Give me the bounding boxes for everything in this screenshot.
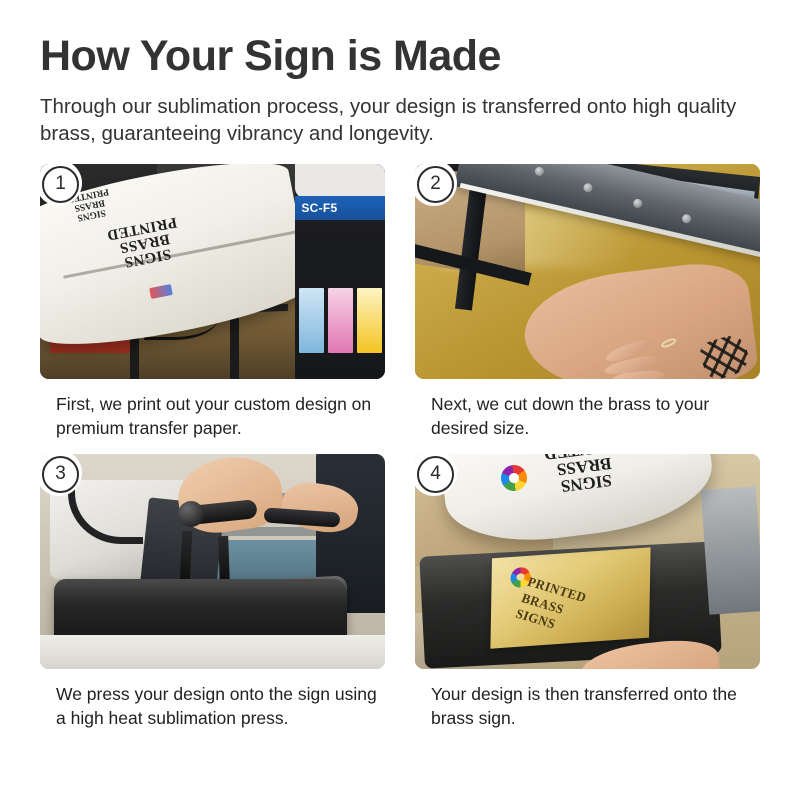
step-photo-4: PRINTEDBRASSSIGNS SIGNSBRASSPRINTED 4: [415, 454, 760, 669]
step-photo-3: 3: [40, 454, 385, 669]
forearm-tattoo: [698, 332, 753, 379]
step-badge-3: 3: [42, 456, 79, 493]
step-badge-4: 4: [417, 456, 454, 493]
step-badge-2: 2: [417, 166, 454, 203]
blade-bolt: [533, 166, 544, 177]
step-card-3: 3 We press your design onto the sign usi…: [40, 454, 385, 730]
step-card-1: SIGNSBRASSPRINTED SIGNSBRASSPRINTED SC-F…: [40, 164, 385, 440]
printer-model-label: SC-F5: [295, 196, 385, 220]
step-card-4: PRINTEDBRASSSIGNS SIGNSBRASSPRINTED 4 Yo…: [415, 454, 760, 730]
step-caption-1: First, we print out your custom design o…: [40, 379, 385, 440]
finished-brass-sign: PRINTEDBRASSSIGNS: [490, 547, 650, 649]
steps-grid: SIGNSBRASSPRINTED SIGNSBRASSPRINTED SC-F…: [40, 164, 760, 731]
ink-cartridge-yellow: [357, 288, 382, 353]
step-photo-1: SIGNSBRASSPRINTED SIGNSBRASSPRINTED SC-F…: [40, 164, 385, 379]
press-right-rail: [701, 487, 760, 615]
page-subtitle: Through our sublimation process, your de…: [40, 93, 740, 148]
step-card-2: 2 Next, we cut down the brass to your de…: [415, 164, 760, 440]
step-caption-2: Next, we cut down the brass to your desi…: [415, 379, 760, 440]
step-caption-4: Your design is then transferred onto the…: [415, 669, 760, 730]
protective-cloth: [40, 635, 385, 669]
step-caption-3: We press your design onto the sign using…: [40, 669, 385, 730]
step-photo-2: 2: [415, 164, 760, 379]
infographic-page: How Your Sign is Made Through our sublim…: [0, 0, 800, 800]
ink-cartridge-cyan: [299, 288, 324, 353]
printer-top-cover: [295, 164, 385, 198]
blade-bolt: [680, 213, 691, 224]
wedding-ring: [661, 337, 678, 350]
blade-bolt: [631, 197, 642, 208]
ink-cartridge-bay: [299, 288, 382, 353]
blade-bolt: [582, 182, 593, 193]
step-badge-1: 1: [42, 166, 79, 203]
page-title: How Your Sign is Made: [40, 34, 760, 79]
ink-cartridge-magenta: [328, 288, 353, 353]
